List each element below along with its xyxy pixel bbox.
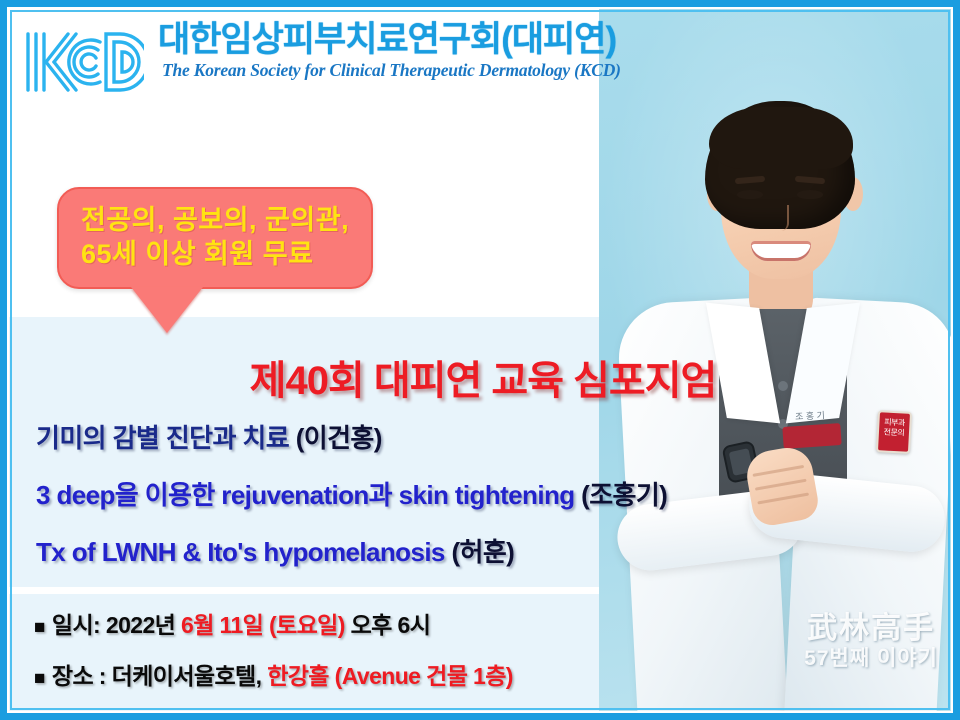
date-suffix: 오후 6시: [351, 612, 431, 638]
mouth: [751, 241, 811, 261]
event-venue-row: ■장소 : 더케이서울호텔, 한강홀 (Avenue 건물 1층): [34, 657, 513, 691]
poster-header: 대한임상피부치료연구회(대피연) The Korean Society for …: [22, 22, 621, 98]
eye-right: [797, 190, 823, 199]
lecture-item-2: 3 deep을 이용한 rejuvenation과 skin tightenin…: [36, 475, 667, 512]
lecture-list: 기미의 감별 진단과 치료 (이건홍) 3 deep을 이용한 rejuvena…: [36, 418, 667, 589]
date-label: 일시:: [52, 612, 100, 638]
bullet-square-icon: ■: [34, 668, 45, 689]
page-title: 제40회 대피연 교육 심포지엄: [0, 348, 960, 406]
lecture-speaker: (조홍기): [581, 480, 667, 510]
poster-canvas: 조 홍 기 대한피부과 피부과 전문의: [0, 0, 960, 720]
eye-left: [737, 190, 763, 199]
nose: [775, 205, 789, 231]
header-text-group: 대한임상피부치료연구회(대피연) The Korean Society for …: [158, 22, 621, 81]
coat-name-tag: [782, 423, 841, 449]
date-prefix: 2022년: [106, 612, 175, 638]
free-admission-callout: 전공의, 공보의, 군의관, 65세 이상 회원 무료: [57, 187, 373, 289]
organization-name: 대한임상피부치료연구회(대피연): [158, 22, 621, 59]
lecture-speaker: (허훈): [451, 537, 514, 567]
finger-line: [752, 465, 804, 477]
lecture-topic: Tx of LWNH & Ito's hypomelanosis: [36, 537, 445, 567]
lecture-item-1: 기미의 감별 진단과 치료 (이건홍): [36, 418, 667, 455]
hair-fringe: [709, 107, 853, 169]
finger-line: [755, 479, 807, 491]
badge-line-2: 전문의: [879, 427, 909, 439]
finger-line: [757, 492, 809, 504]
lecture-topic: 기미의 감별 진단과 치료: [36, 423, 289, 453]
venue-prefix: 더케이서울호텔,: [112, 663, 262, 689]
callout-line-2: 65세 이상 회원 무료: [81, 237, 349, 271]
lecture-topic: 3 deep을 이용한 rejuvenation과 skin tightenin…: [36, 480, 575, 510]
kcd-logo-icon: [22, 26, 144, 98]
coat-embroidery: 조 홍 기: [795, 408, 825, 423]
venue-highlight: 한강홀 (Avenue 건물 1층): [267, 663, 513, 689]
event-date-row: ■일시: 2022년 6월 11일 (토요일) 오후 6시: [34, 606, 513, 640]
organization-subtitle: The Korean Society for Clinical Therapeu…: [162, 60, 621, 81]
venue-label: 장소 :: [52, 663, 106, 689]
callout-bubble: 전공의, 공보의, 군의관, 65세 이상 회원 무료: [57, 187, 373, 289]
event-details: ■일시: 2022년 6월 11일 (토요일) 오후 6시 ■장소 : 더케이서…: [34, 606, 513, 708]
callout-line-1: 전공의, 공보의, 군의관,: [81, 203, 349, 237]
specialist-badge: 피부과 전문의: [876, 410, 912, 454]
lecture-speaker: (이건홍): [296, 423, 382, 453]
bullet-square-icon: ■: [34, 617, 45, 638]
lecture-item-3: Tx of LWNH & Ito's hypomelanosis (허훈): [36, 532, 667, 569]
callout-tail: [131, 287, 203, 333]
date-highlight: 6월 11일 (토요일): [181, 612, 345, 638]
